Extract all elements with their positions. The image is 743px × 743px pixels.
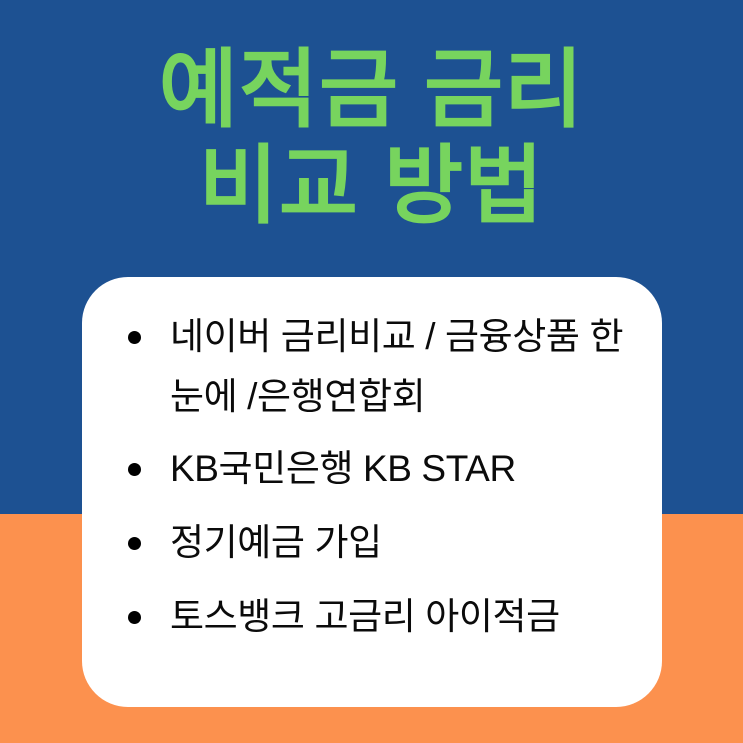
list-item: KB국민은행 KB STAR — [118, 439, 640, 499]
bullet-dot-icon — [128, 611, 141, 624]
list-item-label: 네이버 금리비교 / 금융상품 한눈에 /은행연합회 — [170, 307, 640, 427]
title-line-2: 비교 방법 — [0, 138, 743, 234]
title-line-1: 예적금 금리 — [0, 42, 743, 138]
poster-canvas: 예적금 금리 비교 방법 네이버 금리비교 / 금융상품 한눈에 /은행연합회 … — [0, 0, 743, 743]
bullet-dot-icon — [128, 463, 141, 476]
bullet-dot-icon — [128, 537, 141, 550]
content-card: 네이버 금리비교 / 금융상품 한눈에 /은행연합회 KB국민은행 KB STA… — [82, 277, 662, 707]
bullet-list: 네이버 금리비교 / 금융상품 한눈에 /은행연합회 KB국민은행 KB STA… — [118, 307, 640, 647]
list-item: 정기예금 가입 — [118, 513, 640, 573]
list-item-label: 정기예금 가입 — [170, 513, 640, 573]
list-item: 네이버 금리비교 / 금융상품 한눈에 /은행연합회 — [118, 307, 640, 427]
poster-title: 예적금 금리 비교 방법 — [0, 42, 743, 235]
list-item-label: 토스뱅크 고금리 아이적금 — [170, 587, 640, 647]
list-item: 토스뱅크 고금리 아이적금 — [118, 587, 640, 647]
bullet-dot-icon — [128, 331, 141, 344]
list-item-label: KB국민은행 KB STAR — [170, 439, 640, 499]
